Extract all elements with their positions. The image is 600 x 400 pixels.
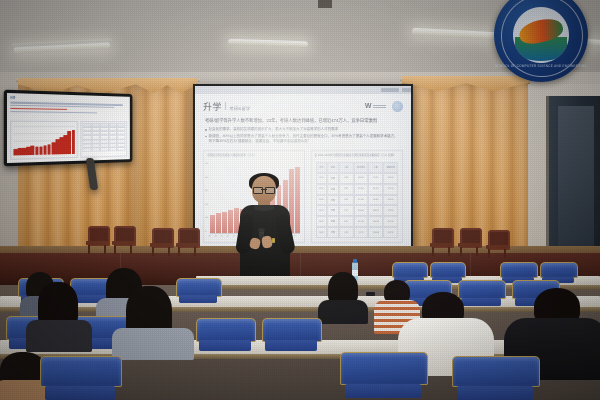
table-cell: 377	[339, 205, 354, 216]
front-chair-6	[458, 228, 480, 256]
student-row2-left	[26, 282, 88, 348]
door-glass	[558, 106, 594, 256]
data-table-caption: 表 2021-2023年全国部分高校硕士研究生报考及录取情况（万人·比例）	[315, 153, 399, 157]
wall-chart-bars	[13, 130, 74, 155]
slide-title-sub: 考研&留学	[229, 106, 250, 112]
presenter-badge	[272, 238, 275, 243]
bar-2011	[222, 212, 227, 233]
wall-bar-8	[47, 144, 51, 155]
table-cell: 2023	[316, 227, 328, 238]
table-cell: 24.1%	[383, 216, 398, 227]
table-cell: 全国	[327, 184, 339, 195]
table-cell: 341	[339, 195, 354, 206]
slide-canvas: 升学 考研&留学 W 考研/留学等升学人数不断增加，23年，考研人数达到峰值，已…	[195, 94, 411, 248]
table-cell: 2021	[316, 205, 328, 216]
w-mark-icon: W	[365, 103, 372, 110]
front-chair-2	[112, 226, 134, 254]
crest-en-text: SCHOOL OF COMPUTER SCIENCE AND ENGINEERI…	[489, 64, 593, 68]
slide-bullet-list: 社会化的需求，高校招生规模的逐步扩大，更大大不断加大了对高等学历人才的需求 新调…	[205, 127, 401, 144]
slide-title-divider	[225, 102, 226, 110]
table-cell: 110.35	[368, 216, 383, 227]
table-cell: 2019	[316, 184, 328, 195]
wall-bar-12	[64, 135, 67, 154]
wall-bar-5	[35, 146, 39, 155]
bar-2009	[210, 215, 215, 232]
ceiling-vent	[318, 0, 332, 8]
slide-lead-text: 考研/留学等升学人数不断增加，23年，考研人数达到峰值，已增近474万人，竞争日…	[205, 118, 401, 124]
table-cell: 全国	[327, 227, 339, 238]
glasses-icon	[253, 187, 275, 192]
lecture-hall-photo: 湖南科技大学计算机科学与工程学院 SCHOOL OF COMPUTER SCIE…	[0, 0, 600, 400]
table-cell: 105.07	[368, 205, 383, 216]
table-row: 2019全国29021.8%81.1327.9%	[316, 184, 398, 195]
partner-logo-w-text	[373, 105, 386, 108]
table-header-row: 年份类别人数同比增长人数录取比例	[316, 162, 398, 173]
college-crest: 湖南科技大学计算机科学与工程学院 SCHOOL OF COMPUTER SCIE…	[489, 4, 593, 78]
bar-2012	[228, 210, 233, 233]
table-row: 2022全国45721.2%110.3524.1%	[316, 216, 398, 227]
wall-bar-0	[13, 149, 17, 155]
wall-bar-2	[22, 147, 26, 155]
front-chair-1	[86, 226, 108, 254]
table-header-cell: 录取比例	[383, 162, 398, 173]
seat-foreground-2	[340, 352, 426, 400]
wall-bar-1	[18, 148, 22, 155]
student-front-left	[116, 286, 190, 356]
wall-table-cell	[100, 147, 109, 151]
seat-foreground-1	[40, 356, 120, 400]
slide-figures: 全国硕士研究生报名人数变化趋势（万人） 5004003002001000 091…	[203, 150, 403, 243]
student-torso	[318, 300, 368, 324]
table-cell: 32.0%	[383, 173, 398, 184]
partner-logo-circle	[392, 101, 403, 112]
table-header-cell: 人数	[368, 162, 383, 173]
table-cell: 27.9%	[383, 184, 398, 195]
slide-bullet-item: 新调查，40%以上的同学是为了提高个人就业竞争力，其作主要目的是就业口，30%考…	[205, 134, 401, 145]
wall-bar-6	[39, 147, 43, 155]
table-cell: 2020	[316, 195, 328, 206]
table-cell: 2018	[316, 173, 328, 184]
table-cell: 457	[339, 216, 354, 227]
projector-toolbar	[195, 86, 411, 94]
table-row: 2023全国4743.7%114.8424.2%	[316, 227, 398, 238]
table-cell: 76.25	[368, 173, 383, 184]
table-cell: 全国	[327, 195, 339, 206]
wall-display-figures	[10, 121, 127, 160]
table-cell: 全国	[327, 205, 339, 216]
seat-r1-4	[262, 318, 320, 352]
table-header-cell: 同比增长	[354, 162, 369, 173]
seat-foreground-3	[452, 356, 538, 400]
table-cell: 17.6%	[354, 195, 369, 206]
table-header-cell: 类别	[327, 162, 339, 173]
seat-r1-3	[196, 318, 254, 352]
table-row: 2018全国23818.4%76.2532.0%	[316, 173, 398, 184]
table-cell: 29.0%	[383, 195, 398, 206]
front-chair-7	[486, 230, 508, 258]
slide-title-main: 升学	[203, 100, 222, 113]
table-cell: 10.6%	[354, 205, 369, 216]
wall-bar-4	[31, 146, 35, 155]
student-torso	[112, 328, 194, 360]
front-chair-5	[430, 228, 452, 256]
wall-bar-11	[60, 137, 63, 154]
table-cell: 99.05	[368, 195, 383, 206]
wall-display-table	[81, 121, 128, 158]
table-cell: 3.7%	[354, 227, 369, 238]
table-cell: 24.2%	[383, 227, 398, 238]
table-cell: 全国	[327, 173, 339, 184]
front-chair-4	[176, 228, 198, 256]
wall-display-title: 升学	[10, 95, 15, 99]
wall-bar-9	[52, 142, 55, 155]
table-cell: 21.8%	[354, 184, 369, 195]
presenter-collar	[254, 205, 274, 211]
wall-bar-13	[68, 131, 71, 154]
crest-emblem-icon	[513, 7, 569, 63]
toolbar-chip-2	[402, 88, 411, 91]
wall-display-panel: 升学	[7, 93, 130, 163]
table-cell: 2022	[316, 216, 328, 227]
table-cell: 81.13	[368, 184, 383, 195]
student-torso	[26, 320, 92, 352]
partner-logo-w: W	[365, 103, 386, 110]
wall-mounted-display: 升学	[4, 90, 133, 167]
table-row: 2021全国37710.6%105.0727.8%	[316, 205, 398, 216]
table-cell: 18.4%	[354, 173, 369, 184]
table-cell: 474	[339, 227, 354, 238]
projection-screen: 升学 考研&留学 W 考研/留学等升学人数不断增加，23年，考研人数达到峰值，已…	[193, 84, 413, 250]
wall-table-cell	[117, 147, 125, 151]
wall-table-cell	[82, 147, 91, 151]
presenter	[236, 176, 294, 288]
bullet-text: 新调查，40%以上的同学是为了提高个人就业竞争力，其作主要目的是就业口，30%考…	[209, 134, 401, 145]
table-row: 2020全国34117.6%99.0529.0%	[316, 195, 398, 206]
wall-bar-10	[56, 139, 59, 154]
curtain-swag-mid	[136, 78, 198, 94]
data-table: 表 2021-2023年全国部分高校硕士研究生报考及录取情况（万人·比例） 年份…	[311, 150, 403, 243]
phone-on-desk	[366, 292, 375, 296]
wall-bar-3	[26, 146, 30, 155]
wall-table-row	[82, 147, 125, 152]
table-cell: 全国	[327, 216, 339, 227]
wall-table-cell	[109, 147, 117, 151]
table-cell: 21.2%	[354, 216, 369, 227]
slide-partner-logos: W	[365, 101, 403, 112]
wall-display-bar-chart	[10, 121, 77, 160]
bar-2010	[216, 213, 221, 233]
front-chair-3	[150, 228, 172, 256]
bar-2023	[295, 167, 300, 233]
wall-bar-7	[43, 146, 47, 155]
table-header-cell: 人数	[339, 162, 354, 173]
bullet-dot-icon	[205, 136, 207, 138]
curtain-swag-right	[402, 76, 530, 92]
bar-chart-caption: 全国硕士研究生报名人数变化趋势（万人）	[207, 153, 301, 157]
slide-bullet-item: 社会化的需求，高校招生规模的逐步扩大，更大大不断加大了对高等学历人才的需求	[205, 127, 401, 132]
wall-table-cell	[91, 147, 100, 151]
table-header-cell: 年份	[316, 162, 328, 173]
table-cell: 27.8%	[383, 205, 398, 216]
table-cell: 290	[339, 184, 354, 195]
toolbar-chip-1	[381, 88, 399, 91]
table-cell: 238	[339, 173, 354, 184]
x-tick: 23	[293, 234, 302, 242]
table-cell: 114.84	[368, 227, 383, 238]
data-table-grid: 年份类别人数同比增长人数录取比例2018全国23818.4%76.2532.0%…	[316, 162, 398, 238]
projected-image: 升学 考研&留学 W 考研/留学等升学人数不断增加，23年，考研人数达到峰值，已…	[195, 86, 411, 248]
student-back-row-mid	[318, 272, 366, 316]
wall-bar-14	[72, 130, 75, 154]
bullet-dot-icon	[205, 129, 207, 131]
wall-display-textblock	[10, 102, 127, 116]
bullet-text: 社会化的需求，高校招生规模的逐步扩大，更大大不断加大了对高等学历人才的需求	[209, 127, 339, 132]
